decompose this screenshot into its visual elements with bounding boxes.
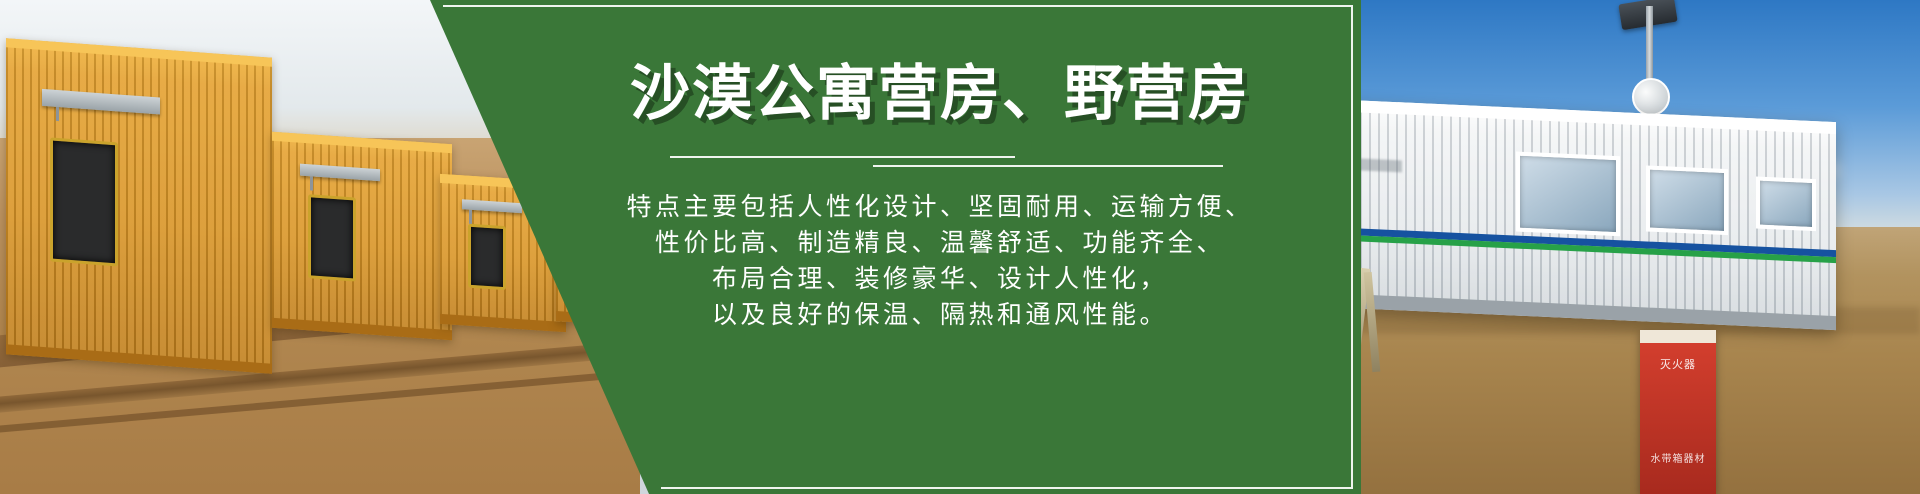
description-line: 特点主要包括人性化设计、坚固耐用、运输方便、 <box>626 189 1253 225</box>
title-divider <box>660 147 1220 169</box>
satellite-dish-icon <box>1632 78 1670 116</box>
divider-line-lower <box>873 165 1223 167</box>
building-window <box>1516 152 1620 237</box>
container-window <box>50 137 118 266</box>
cabinet-body-label: 水带箱器材 <box>1651 450 1706 465</box>
container-awning <box>42 89 160 115</box>
description-line: 布局合理、装修豪华、设计人性化， <box>626 261 1253 297</box>
divider-line-upper <box>670 156 1015 158</box>
building-window <box>1756 176 1816 231</box>
yellow-container-2 <box>272 132 452 341</box>
description-line: 以及良好的保温、隔热和通风性能。 <box>626 297 1253 333</box>
product-banner: 灭火器 水带箱器材 沙漠公寓营房、野营房 特点主要包括人性化设计、坚固耐用、运输… <box>0 0 1920 494</box>
banner-description: 特点主要包括人性化设计、坚固耐用、运输方便、 性价比高、制造精良、温馨舒适、功能… <box>626 189 1253 333</box>
cabinet-top-label: 灭火器 <box>1660 356 1696 372</box>
fire-equipment-cabinet: 灭火器 水带箱器材 <box>1640 330 1716 494</box>
container-window <box>308 194 356 281</box>
container-awning <box>300 164 380 182</box>
yellow-container-1 <box>6 38 272 374</box>
cabinet-top-panel <box>1640 330 1716 343</box>
banner-text-content: 沙漠公寓营房、野营房 特点主要包括人性化设计、坚固耐用、运输方便、 性价比高、制… <box>500 0 1380 494</box>
banner-title: 沙漠公寓营房、野营房 <box>630 62 1250 125</box>
building-window <box>1646 165 1728 235</box>
description-line: 性价比高、制造精良、温馨舒适、功能齐全、 <box>626 225 1253 261</box>
